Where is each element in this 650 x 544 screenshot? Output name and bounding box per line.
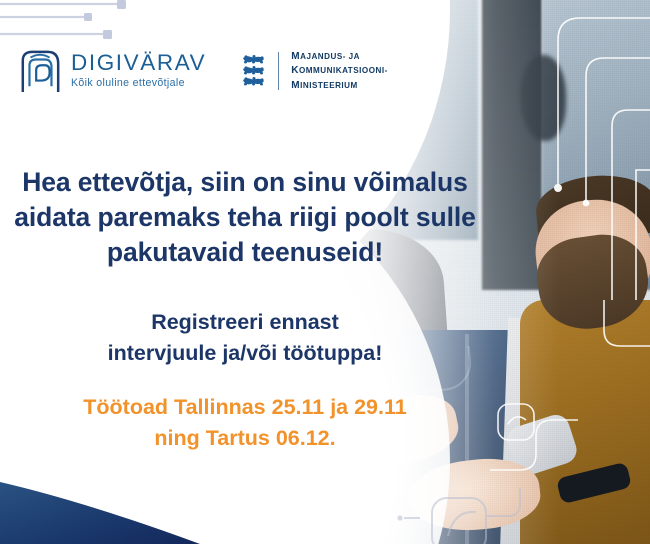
headline-line-1: Hea ettevõtja, siin on sinu võimalus — [12, 165, 478, 200]
digivarav-tagline: Kõik oluline ettevõtjale — [71, 78, 206, 90]
ministry-line-3: Ministeerium — [291, 79, 388, 92]
digivarav-promo-banner: DIGIVÄRAV Kõik oluline ettevõtjale — [0, 0, 650, 544]
workshop-dates-text: Töötoad Tallinnas 25.11 ja 29.11 ning Ta… — [32, 392, 458, 453]
digivarav-logo-lockup[interactable]: DIGIVÄRAV Kõik oluline ettevõtjale — [18, 48, 206, 94]
dates-line-1: Töötoad Tallinnas 25.11 ja 29.11 — [32, 392, 458, 423]
headline-line-2: aidata paremaks teha riigi poolt sulle — [12, 200, 478, 235]
digivarav-title: DIGIVÄRAV — [71, 52, 206, 75]
subhead-line-2: intervjuule ja/või töötuppa! — [32, 338, 458, 369]
ministry-wordmark: Majandus- ja Kommunikatsiooni- Ministeer… — [291, 50, 388, 92]
circuit-connector-lines — [0, 0, 230, 50]
estonian-coat-of-arms-three-lions — [240, 54, 268, 88]
headline: Hea ettevõtja, siin on sinu võimalus aid… — [12, 165, 478, 271]
ministry-logo-lockup[interactable]: Majandus- ja Kommunikatsiooni- Ministeer… — [240, 50, 388, 92]
digivarav-wordmark: DIGIVÄRAV Kõik oluline ettevõtjale — [71, 52, 206, 90]
header-logo-row: DIGIVÄRAV Kõik oluline ettevõtjale — [18, 48, 388, 94]
digivarav-square-swirl-logo — [18, 48, 62, 94]
ministry-divider — [278, 52, 279, 90]
ministry-line-1: Majandus- ja — [291, 50, 388, 63]
call-to-action-text: Registreeri ennast intervjuule ja/või tö… — [32, 307, 458, 368]
headline-line-3: pakutavaid teenuseid! — [12, 235, 478, 270]
dates-line-2: ning Tartus 06.12. — [32, 423, 458, 454]
ministry-line-2: Kommunikatsiooni- — [291, 64, 388, 77]
subhead-line-1: Registreeri ennast — [32, 307, 458, 338]
